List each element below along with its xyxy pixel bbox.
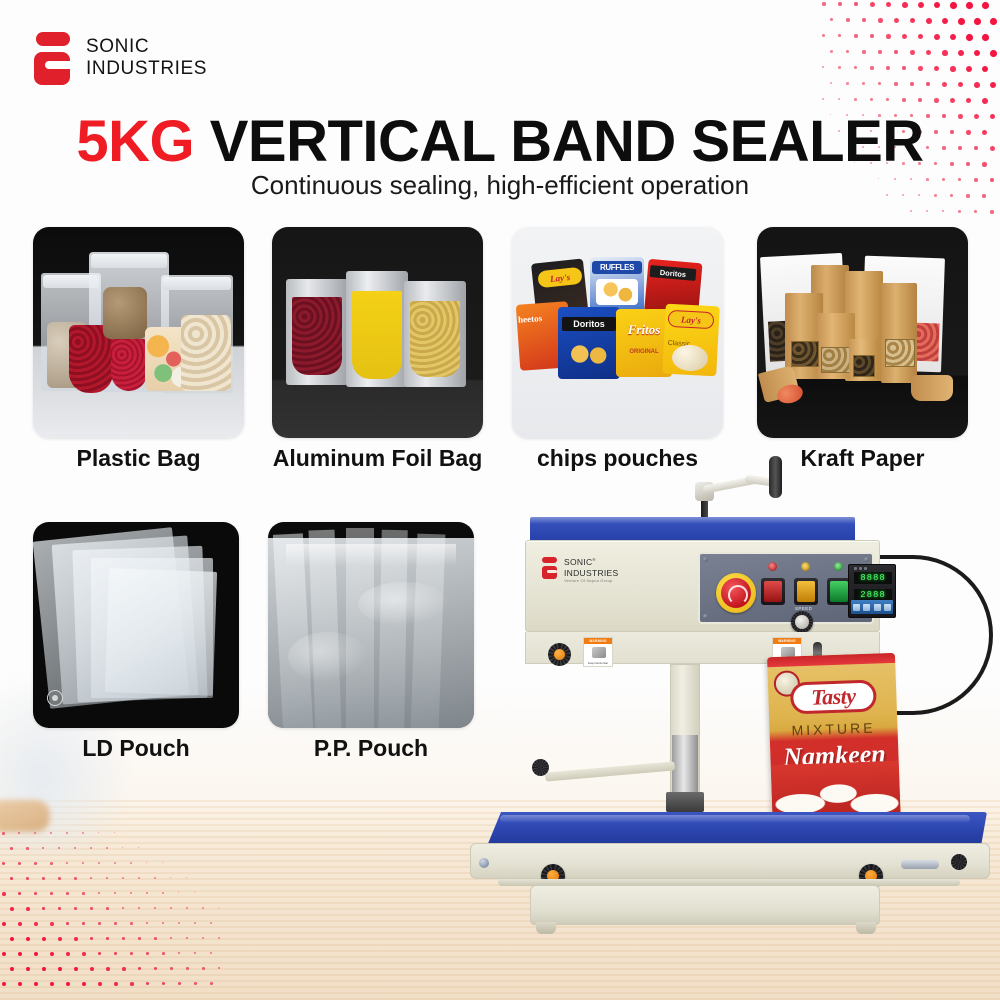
heater-switch[interactable]	[794, 578, 818, 605]
thumbnail-kraft-paper[interactable]: Kraft Paper	[757, 227, 968, 438]
thumbnail-chips-pouches[interactable]: Lay's RUFFLES Doritos heetos Doritos Fri…	[512, 227, 723, 438]
thumbnail-image-pp-pouch	[268, 522, 474, 728]
height-adjust-arm	[545, 761, 675, 781]
panel-screw-bottom-left	[703, 614, 708, 619]
pid-up-button[interactable]	[884, 604, 891, 611]
pressure-adjust-knob[interactable]	[548, 643, 571, 666]
title-rest: VERTICAL BAND SEALER	[210, 109, 924, 174]
pouch-brand-name: Tasty	[811, 683, 856, 711]
heat-lamp-indicator	[801, 562, 810, 571]
pid-controller[interactable]: 8888 2888	[848, 564, 896, 618]
belt-tensioner[interactable]	[901, 860, 939, 869]
thumbnail-label-plastic-bag: Plastic Bag	[33, 438, 244, 472]
image-source-icon	[47, 690, 63, 706]
title-highlight: 5KG	[76, 109, 194, 174]
thumbnail-label-ld-pouch: LD Pouch	[33, 728, 239, 762]
ready-lamp-indicator	[834, 562, 843, 571]
base-foot-left	[536, 922, 556, 934]
hand-crank-grip[interactable]	[769, 456, 782, 498]
machine-logo-line2: INDUSTRIES	[564, 568, 618, 579]
thumbnail-ld-pouch[interactable]: LD Pouch	[33, 522, 239, 728]
thumbnail-label-aluminum-foil-bag: Aluminum Foil Bag	[272, 438, 483, 472]
thumbnail-image-chips-pouches: Lay's RUFFLES Doritos heetos Doritos Fri…	[512, 227, 723, 438]
height-adjust-knob[interactable]	[532, 759, 549, 776]
pouch-line1: MIXTURE	[769, 719, 897, 739]
poster-canvas: SONIC INDUSTRIES 5KG VERTICAL BAND SEALE…	[0, 0, 1000, 1000]
machine-base-stand	[530, 885, 880, 925]
conveyor-belt-highlight	[500, 815, 970, 823]
panel-screw-top-left	[703, 557, 708, 562]
page-title: 5KG VERTICAL BAND SEALER	[0, 108, 1000, 175]
pid-down-button[interactable]	[874, 604, 881, 611]
brand-name-line1: SONIC	[86, 36, 207, 58]
conveyor-end-knob[interactable]	[951, 854, 967, 870]
panel-screw-top-right	[864, 557, 869, 562]
sonic-s-mark-icon	[34, 30, 72, 86]
thumbnail-image-aluminum-foil-bag	[272, 227, 483, 438]
machine-logo-line1: SONIC	[564, 557, 592, 567]
machine-logo-line3: Venture Of Sapna Group	[564, 578, 618, 583]
thumbnail-plastic-bag[interactable]: Plastic Bag	[33, 227, 244, 438]
pid-button-row[interactable]	[851, 600, 893, 614]
pid-status-indicators	[854, 567, 867, 570]
machine-logo-icon	[542, 557, 557, 579]
emergency-stop-button[interactable]	[716, 573, 756, 613]
page-subtitle: Continuous sealing, high-efficient opera…	[0, 170, 1000, 201]
thumbnail-image-plastic-bag	[33, 227, 244, 438]
pid-set-button[interactable]	[853, 604, 860, 611]
thumbnail-image-kraft-paper	[757, 227, 968, 438]
machine-brand-logo: SONIC® INDUSTRIES Venture Of Sapna Group	[542, 557, 618, 583]
thumbnail-aluminum-foil-bag[interactable]: Aluminum Foil Bag	[272, 227, 483, 438]
top-blue-highlight	[530, 517, 855, 524]
power-lamp-indicator	[768, 562, 777, 571]
pid-process-value: 8888	[854, 572, 892, 584]
conveyor-screw	[479, 858, 489, 868]
warning-sticker-1-note: Keep hands clear	[584, 662, 612, 665]
pouch-brand-logo: Tasty	[790, 680, 877, 715]
speed-knob[interactable]	[791, 611, 813, 633]
brand-logo: SONIC INDUSTRIES	[34, 30, 207, 86]
conveyor-frame	[470, 843, 990, 879]
main-switch[interactable]	[761, 578, 785, 605]
machine-head-housing: SONIC® INDUSTRIES Venture Of Sapna Group	[525, 540, 880, 632]
background-wood-chip	[0, 800, 50, 832]
control-panel: SPEED 8888 2888	[698, 552, 874, 624]
warning-sticker-1: WARNING Keep hands clear	[583, 637, 613, 667]
thumbnail-image-ld-pouch	[33, 522, 239, 728]
thumbnail-label-pp-pouch: P.P. Pouch	[268, 728, 474, 762]
support-column-clamp	[666, 792, 704, 812]
sample-product-pouch: Tasty MIXTURE Namkeen	[767, 653, 901, 833]
base-foot-right	[856, 922, 876, 934]
pid-shift-button[interactable]	[863, 604, 870, 611]
brand-name-line2: INDUSTRIES	[86, 58, 207, 80]
band-sealer-machine: SONIC® INDUSTRIES Venture Of Sapna Group	[470, 455, 1000, 975]
registered-mark: ®	[592, 557, 595, 562]
emergency-stop-icon	[721, 578, 751, 608]
thumbnail-pp-pouch[interactable]: P.P. Pouch	[268, 522, 474, 728]
